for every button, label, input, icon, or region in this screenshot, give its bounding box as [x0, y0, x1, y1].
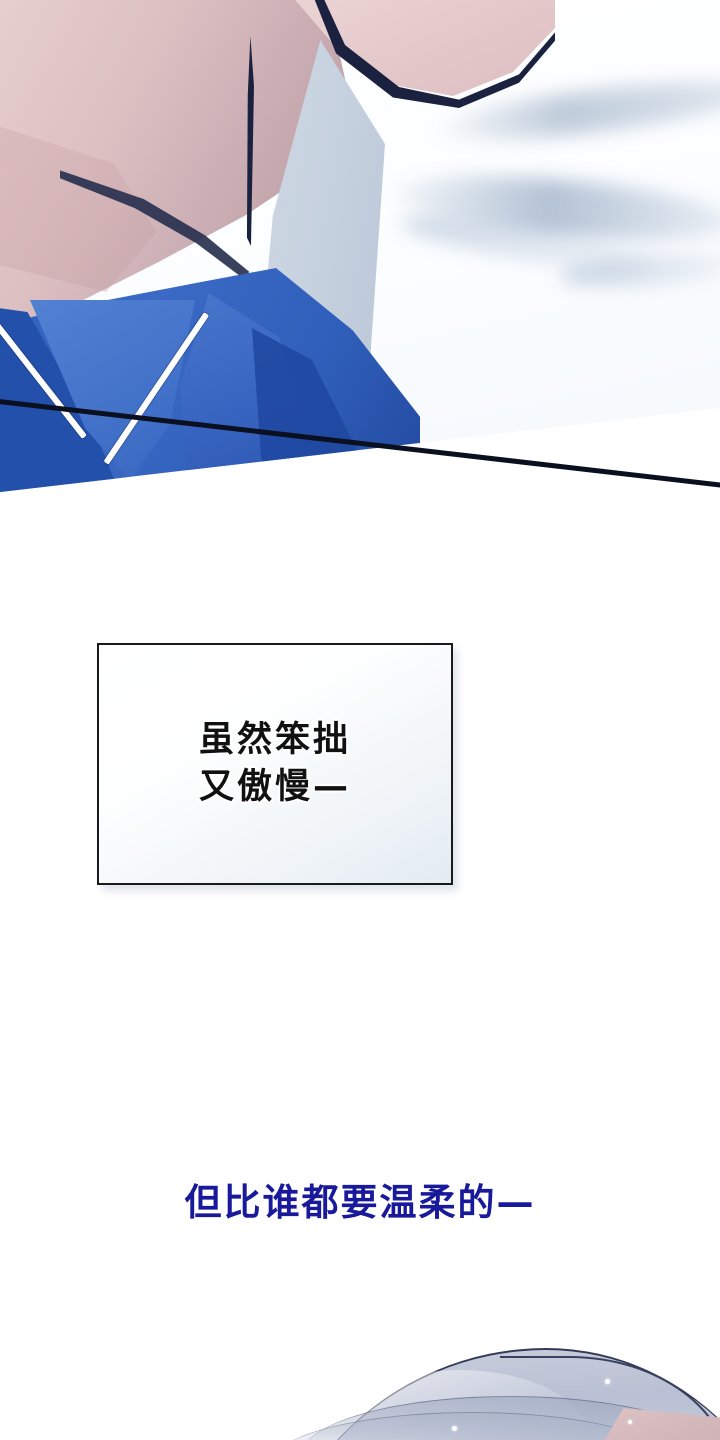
- sparkle-icon: [369, 1402, 373, 1406]
- narration-box: 虽然笨拙 又傲慢—: [97, 643, 453, 885]
- narration-line-2: 又傲慢—: [199, 764, 351, 811]
- blue-narration: 但比谁都要温柔的—: [0, 1172, 720, 1226]
- bottom-head-panel: [0, 1330, 720, 1440]
- comic-page: 虽然笨拙 又傲慢— 但比谁都要温柔的—: [0, 0, 720, 1440]
- panel-clip-region: [0, 0, 720, 500]
- narration-line-1: 虽然笨拙: [199, 717, 351, 764]
- blue-narration-text: 但比谁都要温柔的—: [185, 1181, 536, 1224]
- top-illustration-panel: [0, 0, 720, 500]
- sparkle-icon: [452, 1426, 457, 1431]
- sparkle-icon: [286, 1428, 289, 1431]
- sparkle-icon: [605, 1379, 610, 1384]
- sparkle-icon: [319, 1411, 323, 1415]
- sparkle-icon: [628, 1420, 632, 1424]
